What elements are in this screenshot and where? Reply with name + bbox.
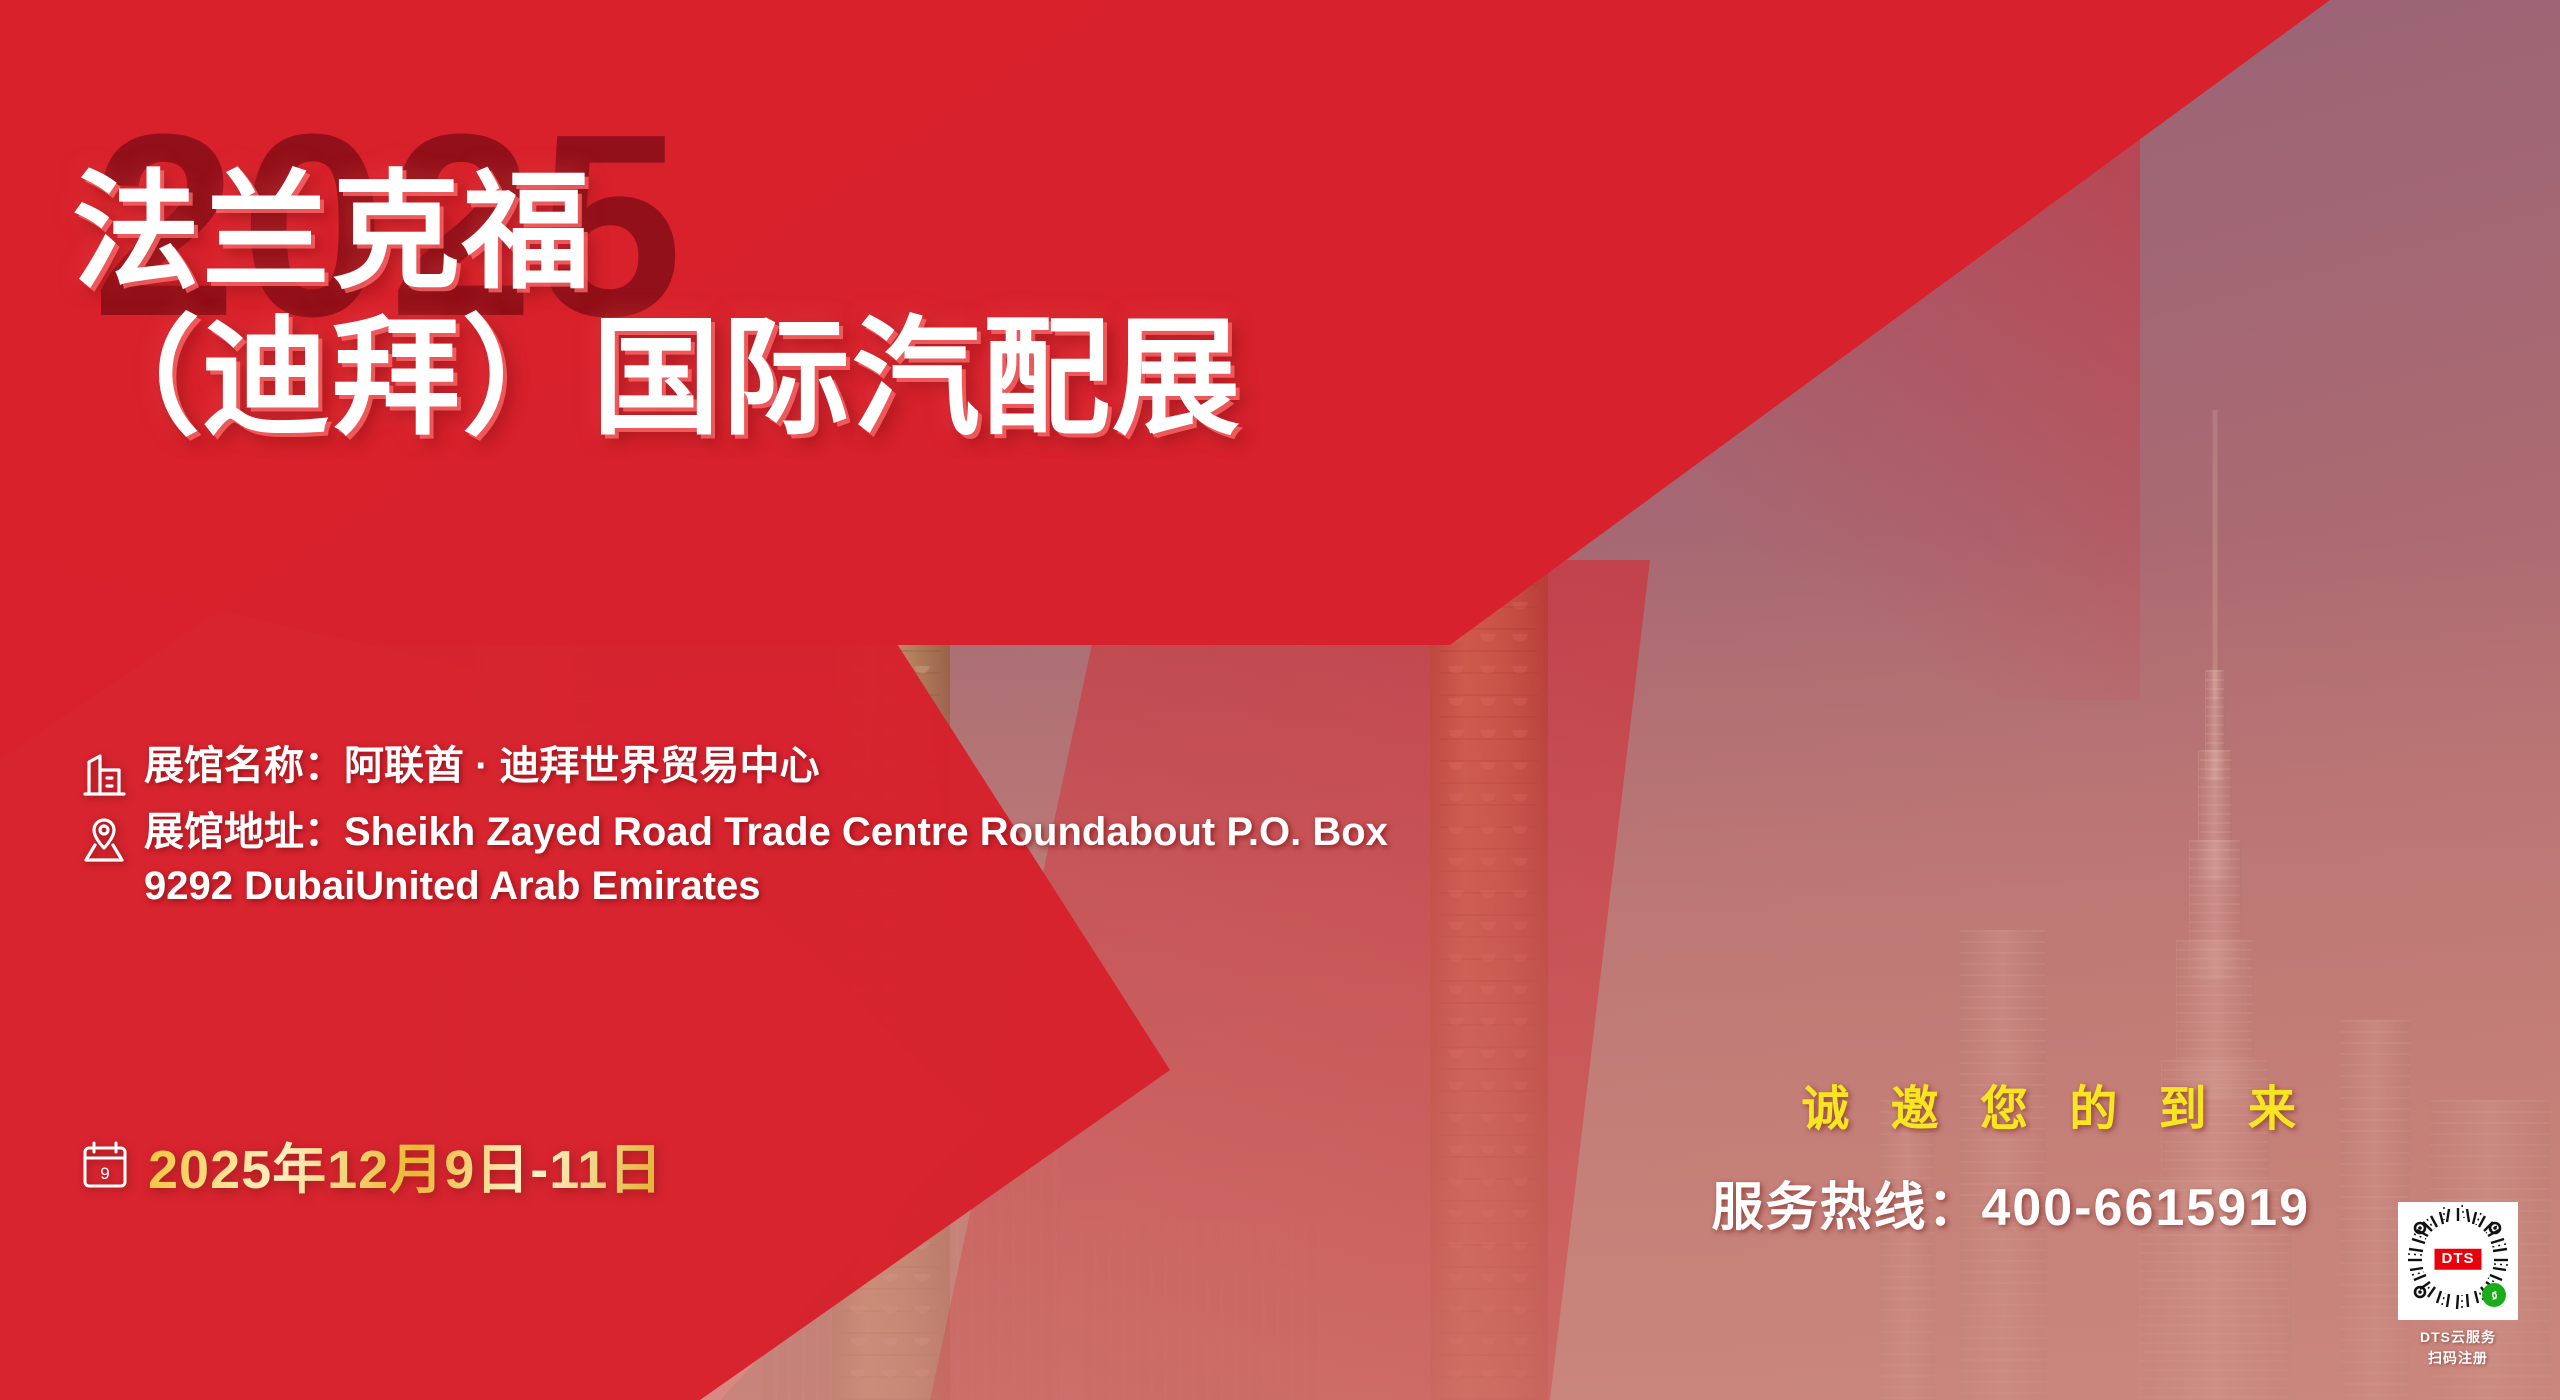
qr-caption-line-1: DTS云服务: [2398, 1327, 2518, 1347]
title-line-2: （迪拜）国际汽配展: [72, 306, 1472, 452]
venue-name-text: 展馆名称：阿联酋 · 迪拜世界贸易中心: [144, 740, 820, 794]
event-date-row: 9 2025年12月9日-11日: [78, 1125, 663, 1204]
hotline-text[interactable]: 服务热线：400-6615919: [1711, 1165, 2310, 1240]
qr-registration-block[interactable]: DTS DTS云服务 扫码注册: [2398, 1202, 2518, 1368]
wechat-miniprogram-icon: [2482, 1283, 2506, 1307]
building-icon: [78, 748, 130, 800]
location-pin-map-icon: [78, 814, 130, 866]
dts-logo: DTS: [2435, 1249, 2482, 1270]
address-text: 展馆地址：Sheikh Zayed Road Trade Centre Roun…: [144, 806, 1444, 913]
venue-row: 展馆名称：阿联酋 · 迪拜世界贸易中心: [78, 740, 1498, 800]
qr-caption-line-2: 扫码注册: [2398, 1348, 2518, 1368]
calendar-icon: 9: [78, 1138, 132, 1192]
calendar-day-number: 9: [100, 1164, 109, 1183]
title-line-1: 法兰克福: [72, 160, 1472, 306]
invite-text: 诚 邀 您 的 到 来: [1711, 1069, 2310, 1139]
exhibition-promo-banner: 2025 法兰克福 （迪拜）国际汽配展 展馆名称：阿联酋 · 迪拜世界贸易中心: [0, 0, 2560, 1400]
event-info-block: 展馆名称：阿联酋 · 迪拜世界贸易中心 展馆地址：Sheikh Zayed Ro…: [78, 740, 1498, 919]
address-row: 展馆地址：Sheikh Zayed Road Trade Centre Roun…: [78, 806, 1498, 913]
event-date-text: 2025年12月9日-11日: [148, 1125, 663, 1204]
page-title: 法兰克福 （迪拜）国际汽配展: [72, 160, 1472, 452]
call-to-action-block: 诚 邀 您 的 到 来 服务热线：400-6615919: [1711, 1069, 2310, 1240]
qr-caption: DTS云服务 扫码注册: [2398, 1327, 2518, 1368]
qr-code-card[interactable]: DTS: [2398, 1202, 2518, 1320]
